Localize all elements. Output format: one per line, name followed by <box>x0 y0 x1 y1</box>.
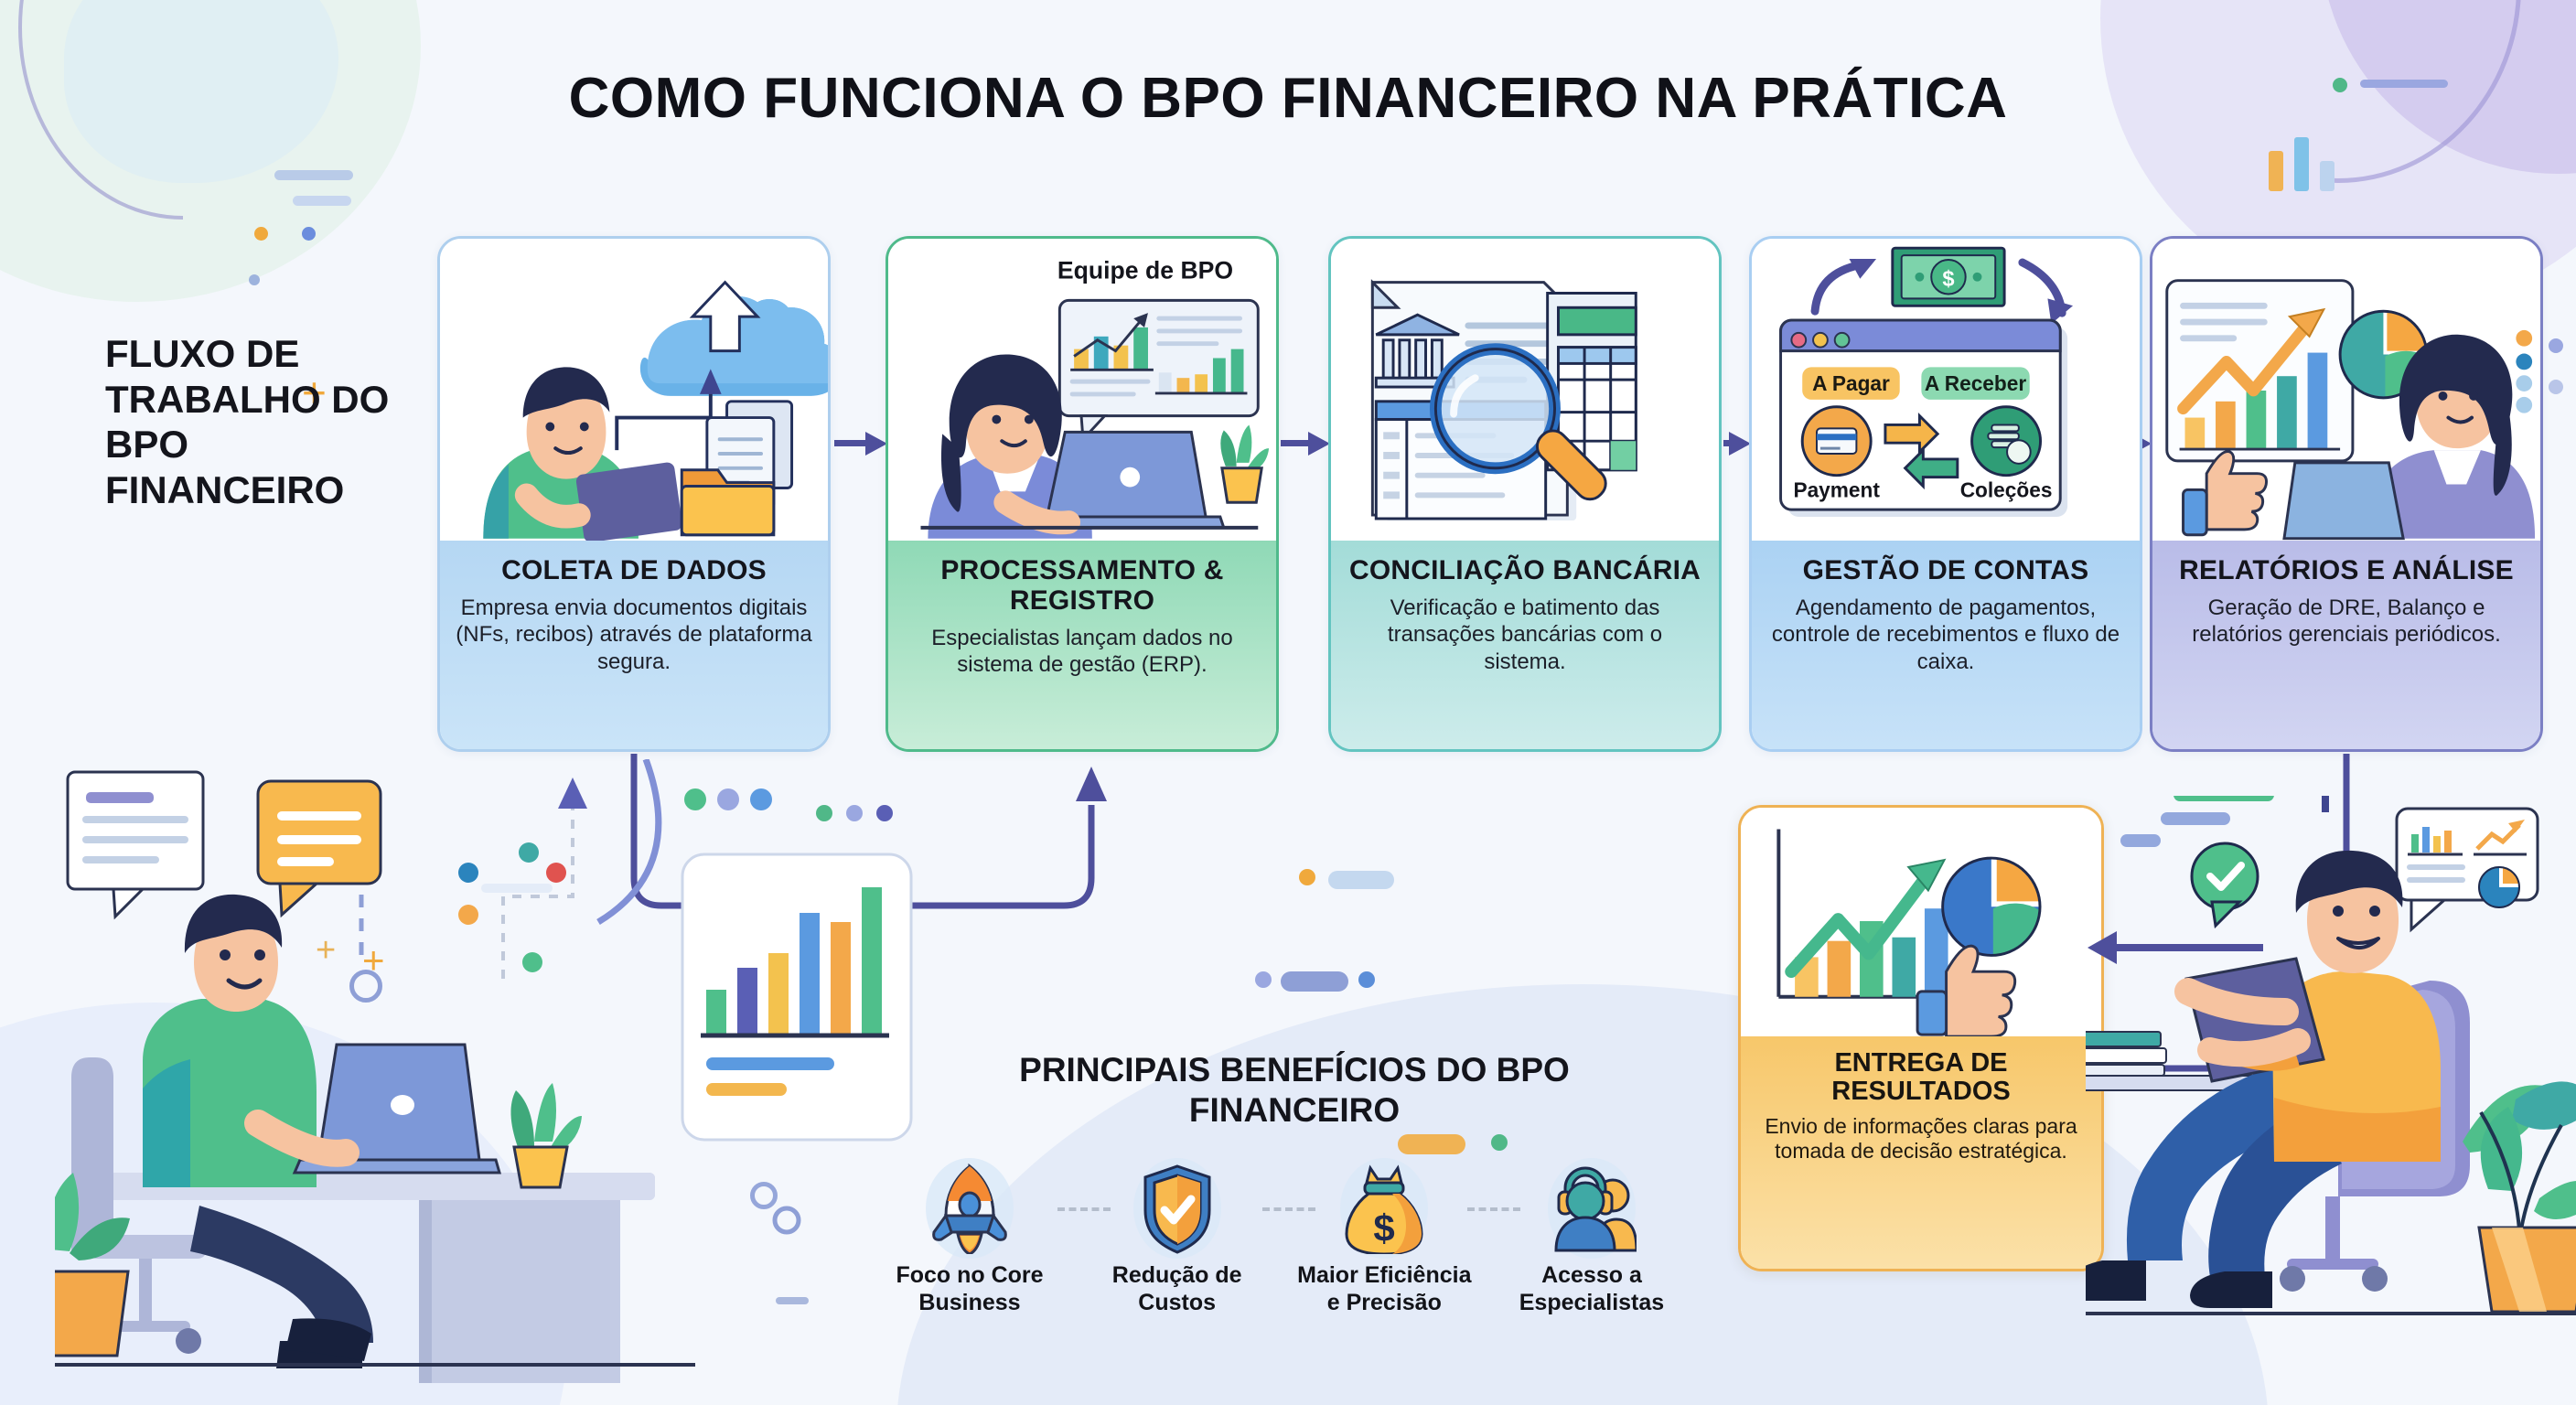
benefit-divider <box>1467 1207 1520 1211</box>
inline-label-equipe-bpo: Equipe de BPO <box>1057 257 1233 284</box>
deco-pill <box>1398 1134 1465 1154</box>
deco-dot <box>2549 380 2563 394</box>
step-card-relatorios-e-analise[interactable]: RELATÓRIOS E ANÁLISE Geração de DRE, Bal… <box>2150 236 2543 752</box>
headset-people-icon <box>1500 1160 1683 1257</box>
benefit-item-foco-core-business[interactable]: Foco no Core Business <box>878 1160 1061 1316</box>
step-card-description: Geração de DRE, Balanço e relatórios ger… <box>2165 595 2528 649</box>
step-card-description: Especialistas lançam dados no sistema de… <box>901 625 1263 679</box>
arrow-step1-to-step2 <box>834 432 887 456</box>
illustration-person-tablet-cloud-upload <box>440 239 828 541</box>
benefit-label: Maior Eficiência e Precisão <box>1293 1262 1476 1316</box>
deco-pill <box>274 170 353 180</box>
illustration-growth-pie-thumbsup <box>1741 808 2101 1036</box>
check-bubble-icon <box>2192 843 2258 926</box>
svg-text:$: $ <box>1374 1207 1395 1249</box>
chip-a-receber: A Receber <box>1925 371 2026 395</box>
delivery-card-title: ENTREGA DE RESULTADOS <box>1752 1049 2090 1107</box>
step-card-conciliacao-bancaria[interactable]: CONCILIAÇÃO BANCÁRIA Verificação e batim… <box>1328 236 1722 752</box>
message-bubble-icon <box>258 781 381 915</box>
deco-pill <box>293 196 351 206</box>
deco-bar <box>2320 161 2334 191</box>
step-card-coleta-de-dados[interactable]: COLETA DE DADOS Empresa envia documentos… <box>437 236 831 752</box>
benefit-item-maior-eficiencia[interactable]: $ Maior Eficiência e Precisão <box>1293 1160 1476 1316</box>
rocket-icon <box>878 1160 1061 1257</box>
deco-pill <box>1281 971 1348 992</box>
illustration-payables-receivables-window: $ A Pagar A Receber Payment <box>1752 239 2140 541</box>
deco-bar <box>2269 151 2283 191</box>
step-card-title: RELATÓRIOS E ANÁLISE <box>2165 555 2528 585</box>
benefit-item-acesso-especialistas[interactable]: Acesso a Especialistas <box>1500 1160 1683 1316</box>
step-card-description: Agendamento de pagamentos, controle de r… <box>1765 595 2127 675</box>
delivery-card-entrega-de-resultados[interactable]: ENTREGA DE RESULTADOS Envio de informaçõ… <box>1738 805 2104 1271</box>
step-card-gestao-de-contas[interactable]: $ A Pagar A Receber Payment <box>1749 236 2142 752</box>
illustration-bank-statement-magnifier <box>1331 239 1719 541</box>
arrow-step3-to-step4 <box>1723 432 1751 456</box>
svg-text:+: + <box>362 938 385 981</box>
deco-dot <box>254 227 268 241</box>
document-bubble-icon <box>68 772 203 917</box>
deco-dot <box>249 274 260 285</box>
deco-dot <box>1299 869 1315 885</box>
benefit-divider <box>1262 1207 1315 1211</box>
deco-dot <box>1491 1134 1508 1151</box>
step-card-description: Verificação e batimento das transações b… <box>1344 595 1706 675</box>
scene-man-at-desk: + <box>55 759 933 1405</box>
label-colecoes: Coleções <box>1960 477 2053 501</box>
mini-chart-card <box>682 788 911 1140</box>
deco-dot <box>1255 971 1272 988</box>
step-card-title: COLETA DE DADOS <box>453 555 815 585</box>
deco-dot <box>2549 338 2563 353</box>
delivery-card-description: Envio de informações claras para tomada … <box>1752 1114 2090 1164</box>
report-bubble-icon <box>2397 809 2538 929</box>
blob-top-left <box>0 0 421 302</box>
page-title: COMO FUNCIONA O BPO FINANCEIRO NA PRÁTIC… <box>0 66 2576 131</box>
deco-dot <box>302 227 316 241</box>
step-card-title: PROCESSAMENTO & REGISTRO <box>901 555 1263 616</box>
svg-text:$: $ <box>1942 268 1954 292</box>
label-payment: Payment <box>1793 477 1880 501</box>
benefits-heading: PRINCIPAIS BENEFÍCIOS DO BPO FINANCEIRO <box>1011 1050 1578 1132</box>
arrow-step2-to-step3 <box>1281 432 1330 456</box>
step-card-title: CONCILIAÇÃO BANCÁRIA <box>1344 555 1706 585</box>
benefit-item-reducao-custos[interactable]: Redução de Custos <box>1086 1160 1269 1316</box>
deco-dot <box>1358 971 1375 988</box>
shield-check-icon <box>1086 1160 1269 1257</box>
benefit-label: Redução de Custos <box>1086 1262 1269 1316</box>
deco-bar <box>2294 137 2309 191</box>
illustration-woman-laptop-dashboard: Equipe de BPO <box>888 239 1276 541</box>
step-card-description: Empresa envia documentos digitais (NFs, … <box>453 595 815 675</box>
scene-man-with-tablet <box>2086 796 2576 1405</box>
benefits-row: Foco no Core Business Redução de Custos … <box>878 1160 1683 1316</box>
flow-section-label: FLUXO DE TRABALHO DO BPO FINANCEIRO <box>105 331 407 512</box>
benefit-label: Acesso a Especialistas <box>1500 1262 1683 1316</box>
step-card-title: GESTÃO DE CONTAS <box>1765 555 2127 585</box>
benefit-label: Foco no Core Business <box>878 1262 1061 1316</box>
money-bag-icon: $ <box>1293 1160 1476 1257</box>
illustration-growth-chart-pie-woman <box>2152 239 2540 541</box>
step-card-processamento-registro[interactable]: Equipe de BPO PROCESSAMENTO & REGISTRO E… <box>885 236 1279 752</box>
benefit-divider <box>1057 1207 1111 1211</box>
chip-a-pagar: A Pagar <box>1812 371 1890 395</box>
deco-pill <box>1328 871 1394 889</box>
